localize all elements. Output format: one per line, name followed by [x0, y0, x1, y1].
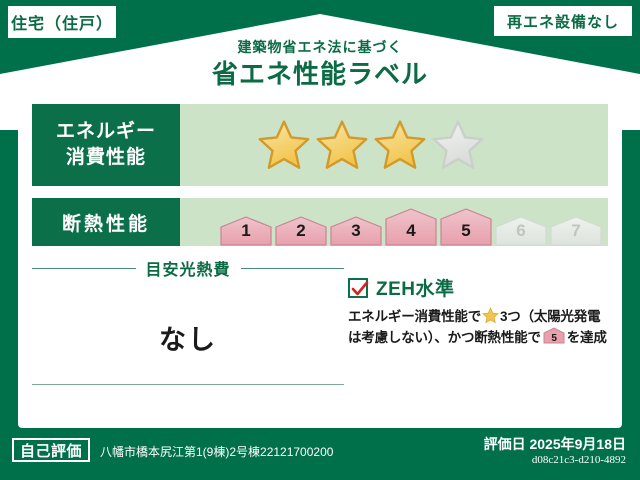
chevron-shape-icon: [550, 216, 602, 246]
evaluation-id: d08c21c3-d210-4892: [532, 454, 626, 466]
label-panel: エネルギー 消費性能 断熱性能 1234567 目安光熱費: [18, 90, 622, 428]
badge-renewable-energy: 再エネ設備なし: [494, 6, 632, 36]
insulation-performance-value: 1234567: [180, 198, 608, 246]
self-evaluation-badge: 自己評価: [12, 438, 90, 462]
zeh-desc-part1: エネルギー消費性能で: [348, 309, 481, 324]
star-filled-icon: [316, 119, 368, 171]
chevron-chip-icon: 5: [543, 327, 565, 344]
evaluation-date-value: 2025年9月18日: [529, 436, 626, 452]
utility-cost-value: なし: [32, 318, 344, 357]
chevron-shape-icon: [495, 216, 547, 246]
insulation-level-7: 7: [550, 216, 602, 246]
insulation-performance-label: 断熱性能: [32, 198, 180, 246]
heading-rule-right: [241, 268, 345, 269]
zeh-title: ZEH水準: [376, 274, 455, 301]
chevron-shape-icon: [275, 216, 327, 246]
chevron-shape-icon: [330, 216, 382, 246]
insulation-performance-row: 断熱性能 1234567: [32, 198, 608, 246]
energy-label-line2: 消費性能: [66, 145, 146, 171]
insulation-level-1: 1: [220, 216, 272, 246]
chevron-shape-icon: [220, 216, 272, 246]
insulation-level-2: 2: [275, 216, 327, 246]
evaluation-date-label: 評価日: [484, 436, 526, 452]
energy-performance-value: [180, 104, 608, 186]
zeh-chip-number: 5: [551, 333, 557, 344]
energy-label-line1: エネルギー: [56, 119, 156, 145]
label-footer: 自己評価 八幡市橋本尻江第1(9棟)2号棟22121700200 評価日 202…: [0, 428, 640, 480]
chevron-shape-icon: [385, 208, 437, 246]
zeh-desc-part2: 3つ（太陽光発電: [500, 309, 600, 324]
star-icon: [482, 307, 499, 324]
utility-cost-block: 目安光熱費 なし: [32, 256, 344, 357]
badge-housing-type: 住宅（住戸）: [8, 6, 116, 38]
check-icon: [351, 280, 369, 298]
insulation-level-4: 4: [385, 208, 437, 246]
page-title: 建築物省エネ法に基づく 省エネ性能ラベル: [0, 38, 640, 90]
panel-bottom-area: 目安光熱費 なし ZEH水準 エネルギー消費性能で3つ（太陽光発電は考慮しない）: [18, 256, 622, 428]
heading-rule-left: [32, 268, 136, 269]
zeh-level-chip: 5: [543, 327, 565, 350]
star-empty-icon: [432, 119, 484, 171]
utility-cost-heading-label: 目安光熱費: [146, 256, 231, 280]
badge-housing-type-label: 住宅（住戸）: [11, 10, 113, 34]
insulation-label-text: 断熱性能: [62, 209, 150, 236]
zeh-desc-part3: は考慮しない）、かつ断熱性能で: [348, 330, 541, 345]
star-filled-icon: [374, 119, 426, 171]
utility-cost-heading: 目安光熱費: [32, 256, 344, 280]
star-filled-icon: [258, 119, 310, 171]
zeh-description: エネルギー消費性能で3つ（太陽光発電は考慮しない）、かつ断熱性能で5を達成: [348, 307, 610, 350]
zeh-heading: ZEH水準: [348, 274, 610, 301]
energy-performance-label: エネルギー 消費性能: [32, 104, 180, 186]
insulation-level-scale: 1234567: [180, 198, 602, 246]
zeh-block: ZEH水準 エネルギー消費性能で3つ（太陽光発電は考慮しない）、かつ断熱性能で5…: [348, 274, 610, 350]
star-rating: [180, 119, 484, 171]
energy-performance-label: 住宅（住戸） 再エネ設備なし 建築物省エネ法に基づく 省エネ性能ラベル エネルギ…: [0, 0, 640, 480]
badge-renewable-energy-label: 再エネ設備なし: [507, 11, 619, 32]
utility-cost-divider: [32, 384, 344, 385]
insulation-level-5: 5: [440, 208, 492, 246]
chevron-shape-icon: [440, 208, 492, 246]
insulation-level-6: 6: [495, 216, 547, 246]
insulation-level-3: 3: [330, 216, 382, 246]
page-subtitle: 建築物省エネ法に基づく: [0, 38, 640, 56]
zeh-desc-part4: を達成: [567, 330, 607, 345]
energy-performance-row: エネルギー 消費性能: [32, 104, 608, 186]
self-evaluation-label: 自己評価: [20, 440, 82, 461]
zeh-checkbox[interactable]: [348, 278, 368, 298]
evaluation-date: 評価日 2025年9月18日: [484, 434, 626, 454]
property-address: 八幡市橋本尻江第1(9棟)2号棟22121700200: [100, 443, 333, 460]
page-title-main: 省エネ性能ラベル: [0, 58, 640, 90]
